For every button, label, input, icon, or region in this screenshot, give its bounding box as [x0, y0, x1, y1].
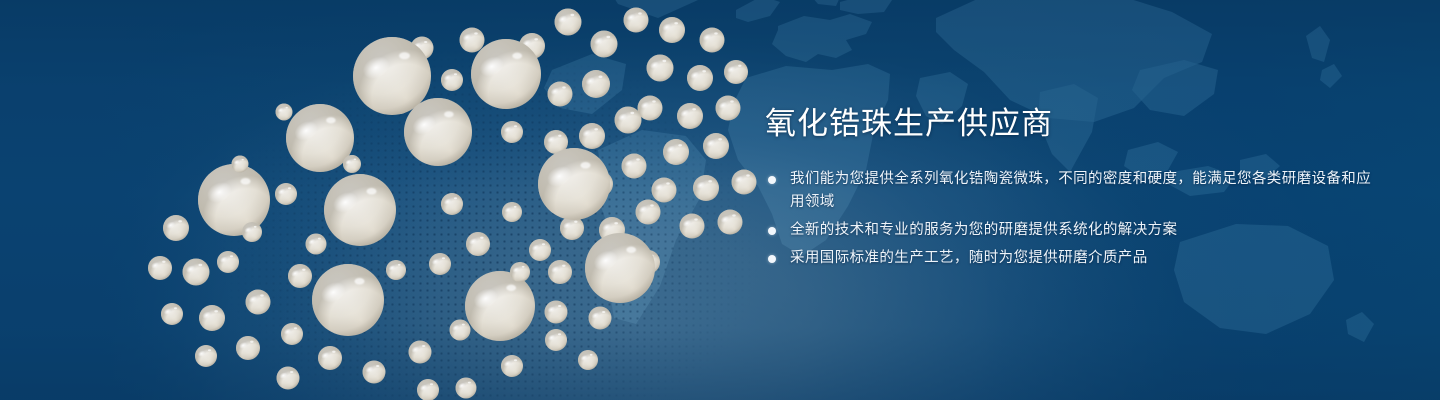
- list-item-label: 我们能为您提供全系列氧化锆陶瓷微珠，不同的密度和硬度，能满足您各类研磨设备和应用…: [790, 171, 1371, 210]
- feature-list: 我们能为您提供全系列氧化锆陶瓷微珠，不同的密度和硬度，能满足您各类研磨设备和应用…: [765, 168, 1385, 270]
- list-item: 我们能为您提供全系列氧化锆陶瓷微珠，不同的密度和硬度，能满足您各类研磨设备和应用…: [765, 168, 1385, 214]
- list-item-label: 采用国际标准的生产工艺，随时为您提供研磨介质产品: [790, 250, 1148, 266]
- list-item-label: 全新的技术和专业的服务为您的研磨提供系统化的解决方案: [790, 222, 1177, 238]
- bullet-dot-icon: [768, 255, 776, 263]
- bullet-dot-icon: [768, 176, 776, 184]
- list-item: 采用国际标准的生产工艺，随时为您提供研磨介质产品: [765, 247, 1385, 270]
- zirconia-beads-image: [0, 0, 760, 400]
- list-item: 全新的技术和专业的服务为您的研磨提供系统化的解决方案: [765, 219, 1385, 242]
- page-title: 氧化锆珠生产供应商: [765, 104, 1385, 144]
- banner-content: 氧化锆珠生产供应商 我们能为您提供全系列氧化锆陶瓷微珠，不同的密度和硬度，能满足…: [765, 104, 1385, 275]
- hero-banner: 氧化锆珠生产供应商 我们能为您提供全系列氧化锆陶瓷微珠，不同的密度和硬度，能满足…: [0, 0, 1440, 400]
- bullet-dot-icon: [768, 227, 776, 235]
